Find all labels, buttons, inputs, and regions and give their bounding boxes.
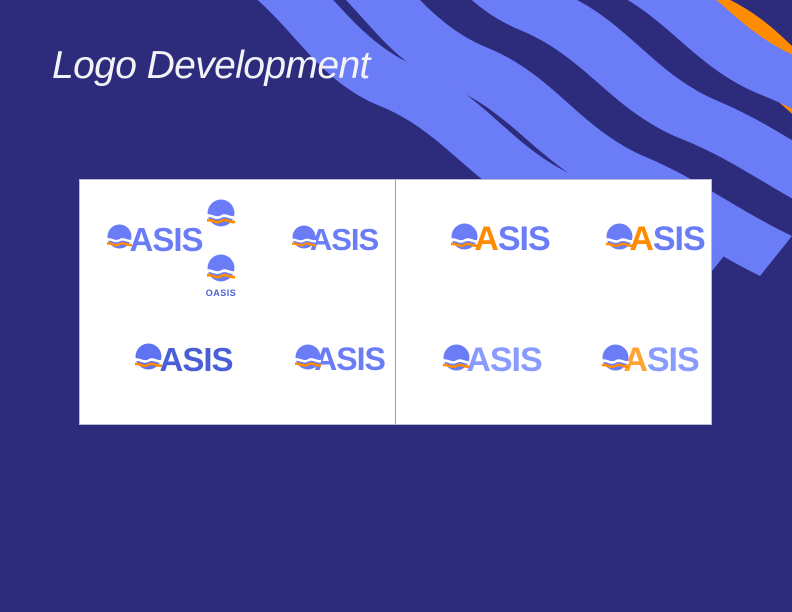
sun-over-water-icon xyxy=(107,224,132,254)
sun-over-water-icon xyxy=(606,223,633,255)
sun-over-water-icon xyxy=(292,225,316,254)
wordmark-letters-rest: SIS xyxy=(498,220,550,258)
logo-variant-oasis-horizontal-lockup-light[interactable]: ASIS xyxy=(418,335,568,385)
logo-variant-oasis-mark-only[interactable] xyxy=(186,195,256,235)
sun-over-water-icon xyxy=(135,343,162,375)
wordmark-text: ASIS xyxy=(314,343,385,375)
logo-variant-oasis-horizontal-lockup-orange-a-light[interactable]: ASIS xyxy=(576,335,726,385)
logo-variant-oasis-horizontal-lockup-tight[interactable]: ASIS xyxy=(270,216,400,262)
wordmark-text: ASIS xyxy=(159,343,232,376)
sun-over-water-icon xyxy=(207,254,235,287)
sun-over-water-icon xyxy=(451,223,478,255)
wordmark-text: ASIS xyxy=(310,224,378,255)
wordmark-text-orange-a: ASIS xyxy=(623,343,698,377)
wordmark-text-orange-a: ASIS xyxy=(474,222,549,256)
sun-over-water-icon xyxy=(207,199,235,232)
sun-over-water-icon xyxy=(295,344,321,375)
wordmark-text-orange-a: ASIS xyxy=(629,222,704,256)
sun-over-water-icon xyxy=(443,344,470,376)
logo-variant-oasis-stacked-lockup[interactable]: OASIS xyxy=(186,252,256,300)
wordmark-letters-rest: SIS xyxy=(647,341,699,379)
wordmark-text: ASIS xyxy=(466,343,541,377)
wave-band-orange xyxy=(560,0,792,150)
logo-variant-oasis-horizontal-lockup-overlap[interactable]: ASIS xyxy=(270,335,410,383)
wave-band-periwinkle-3 xyxy=(452,0,792,176)
logo-board-left-half: ASIS xyxy=(80,180,396,424)
logo-board-right-half: ASIS ASIS xyxy=(396,180,712,424)
logo-variant-oasis-horizontal-lockup-bold[interactable]: ASIS xyxy=(114,335,254,383)
sun-over-water-icon xyxy=(602,344,629,376)
stacked-wordmark-text: OASIS xyxy=(206,289,237,298)
logo-board-panel: ASIS xyxy=(79,179,712,425)
page-title: Logo Development xyxy=(52,44,370,88)
wordmark-letters-rest: SIS xyxy=(653,220,705,258)
slide-canvas: Logo Development ASIS xyxy=(0,0,792,612)
logo-variant-oasis-horizontal-lockup-orange-a[interactable]: ASIS xyxy=(426,214,576,264)
logo-variant-oasis-horizontal-lockup-orange-a-alt[interactable]: ASIS xyxy=(581,214,731,264)
